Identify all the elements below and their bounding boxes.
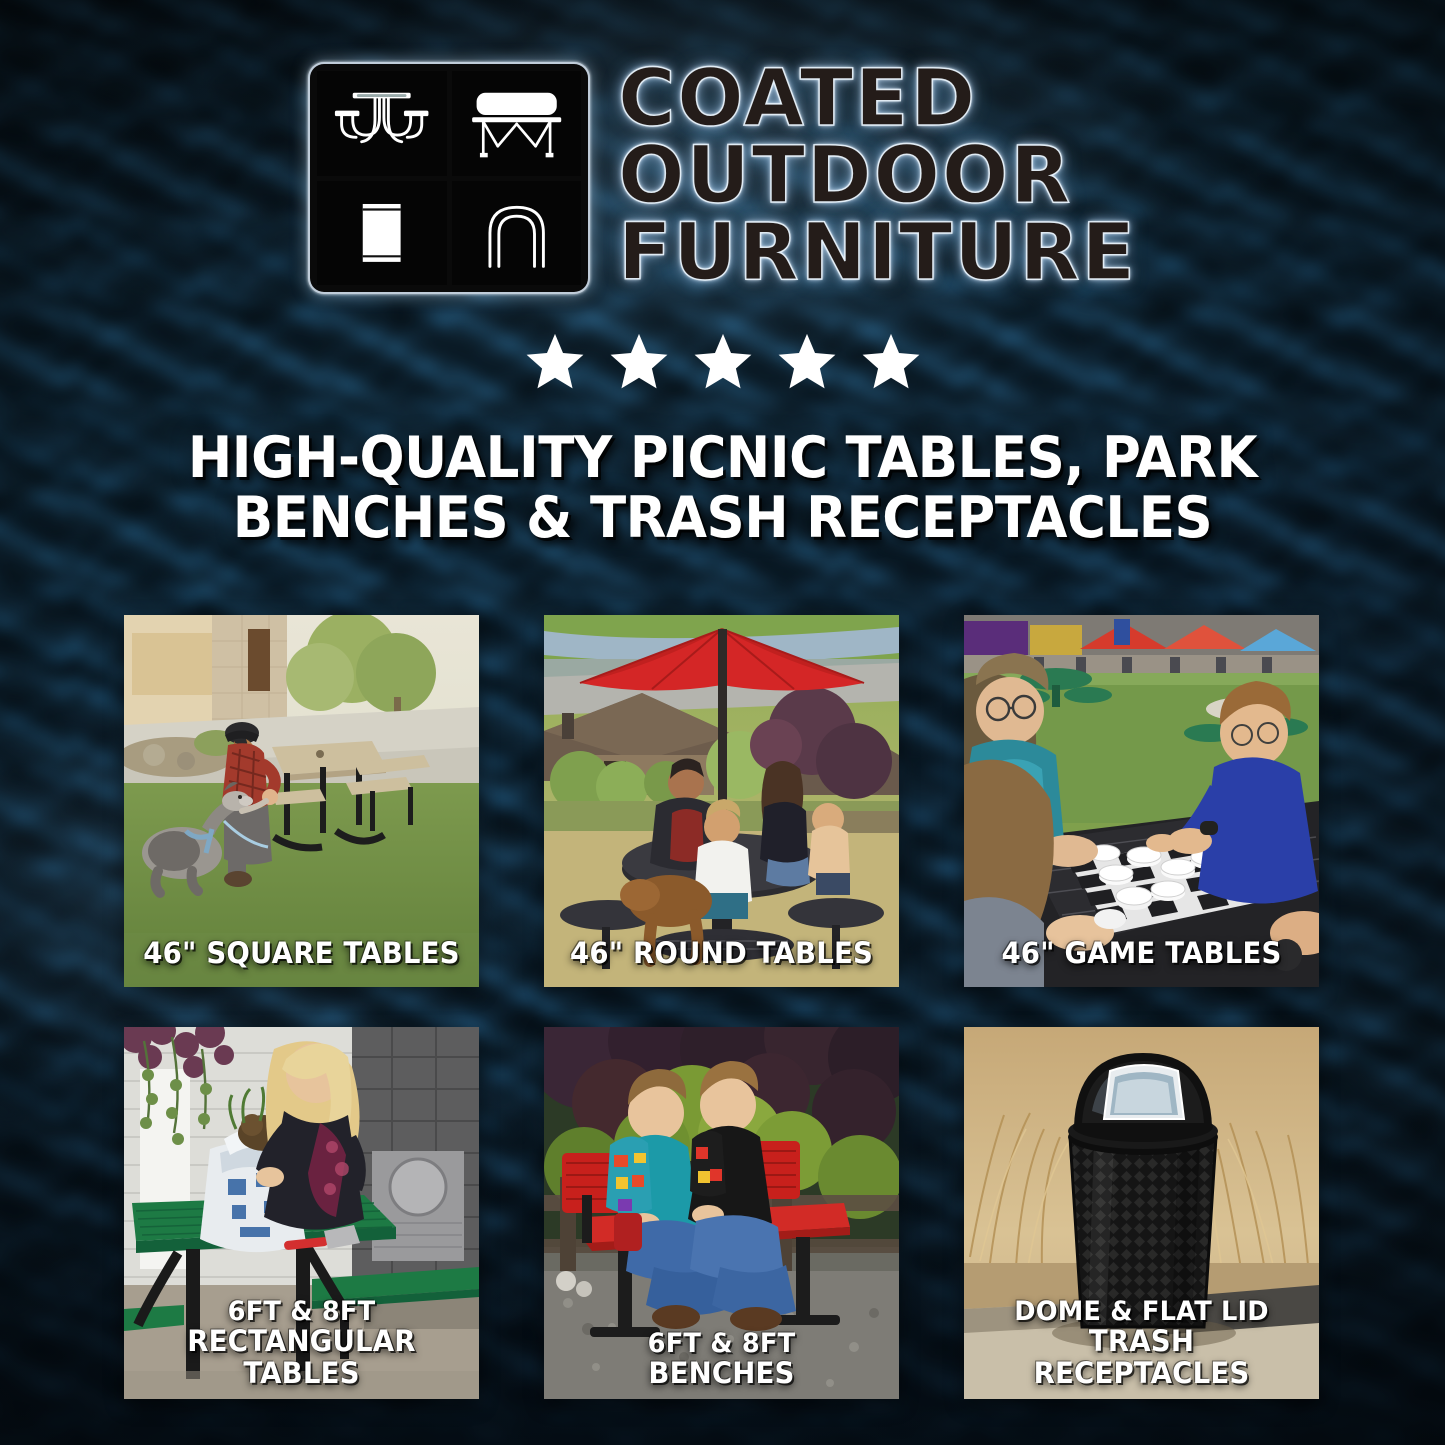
product-tile-benches[interactable]: 6FT & 8FT BENCHES xyxy=(544,1027,899,1399)
product-grid: 46" SQUARE TABLES xyxy=(124,615,1322,1399)
caption-line-1: 46" GAME TABLES xyxy=(980,938,1302,969)
product-caption-rectangular-tables: 6FT & 8FT RECTANGULAR TABLES xyxy=(124,1297,479,1389)
product-tile-square-tables[interactable]: 46" SQUARE TABLES xyxy=(124,615,479,987)
caption-line-1: 46" ROUND TABLES xyxy=(560,938,882,969)
logo-line-1: COATED xyxy=(618,62,1137,137)
caption-line-1: 6FT & 8FT xyxy=(560,1329,882,1358)
product-tile-rectangular-tables[interactable]: 6FT & 8FT RECTANGULAR TABLES xyxy=(124,1027,479,1399)
product-caption-round-tables: 46" ROUND TABLES xyxy=(544,938,899,969)
page-title: HIGH-QUALITY PICNIC TABLES, PARK BENCHES… xyxy=(0,428,1445,549)
headline-line-1: HIGH-QUALITY PICNIC TABLES, PARK xyxy=(106,428,1338,488)
star-icon xyxy=(608,330,670,392)
caption-line-1: 6FT & 8FT xyxy=(140,1297,462,1326)
product-caption-trash-receptacles: DOME & FLAT LID TRASH RECEPTACLES xyxy=(964,1297,1319,1389)
caption-line-1: DOME & FLAT LID xyxy=(980,1297,1302,1326)
bike-rack-arch-icon xyxy=(452,181,582,286)
brand-logo: COATED OUTDOOR FURNITURE xyxy=(0,62,1445,295)
product-photo-square-tables xyxy=(124,615,479,987)
product-caption-game-tables: 46" GAME TABLES xyxy=(964,938,1319,969)
product-caption-square-tables: 46" SQUARE TABLES xyxy=(124,938,479,969)
caption-line-2: RECTANGULAR TABLES xyxy=(140,1326,462,1389)
product-tile-game-tables[interactable]: 46" GAME TABLES xyxy=(964,615,1319,987)
headline-line-2: BENCHES & TRASH RECEPTACLES xyxy=(106,488,1338,548)
star-icon xyxy=(524,330,586,392)
star-icon xyxy=(692,330,754,392)
logo-line-2: OUTDOOR xyxy=(618,139,1137,214)
trash-receptacle-icon xyxy=(317,181,447,286)
star-icon xyxy=(776,330,838,392)
caption-line-2: TRASH RECEPTACLES xyxy=(980,1326,1302,1389)
advertisement-poster: COATED OUTDOOR FURNITURE HIGH-QUALITY PI… xyxy=(0,0,1445,1445)
star-rating xyxy=(0,330,1445,392)
product-caption-benches: 6FT & 8FT BENCHES xyxy=(544,1329,899,1389)
picnic-table-icon xyxy=(317,71,447,176)
product-photo-round-tables xyxy=(544,615,899,987)
bench-icon xyxy=(452,71,582,176)
product-photo-game-tables xyxy=(964,615,1319,987)
logo-icon-grid xyxy=(308,62,590,294)
star-icon xyxy=(860,330,922,392)
product-tile-round-tables[interactable]: 46" ROUND TABLES xyxy=(544,615,899,987)
logo-line-3: FURNITURE xyxy=(618,216,1137,291)
logo-wordmark: COATED OUTDOOR FURNITURE xyxy=(618,62,1137,295)
caption-line-2: BENCHES xyxy=(560,1358,882,1389)
product-tile-trash-receptacles[interactable]: DOME & FLAT LID TRASH RECEPTACLES xyxy=(964,1027,1319,1399)
caption-line-1: 46" SQUARE TABLES xyxy=(140,938,462,969)
